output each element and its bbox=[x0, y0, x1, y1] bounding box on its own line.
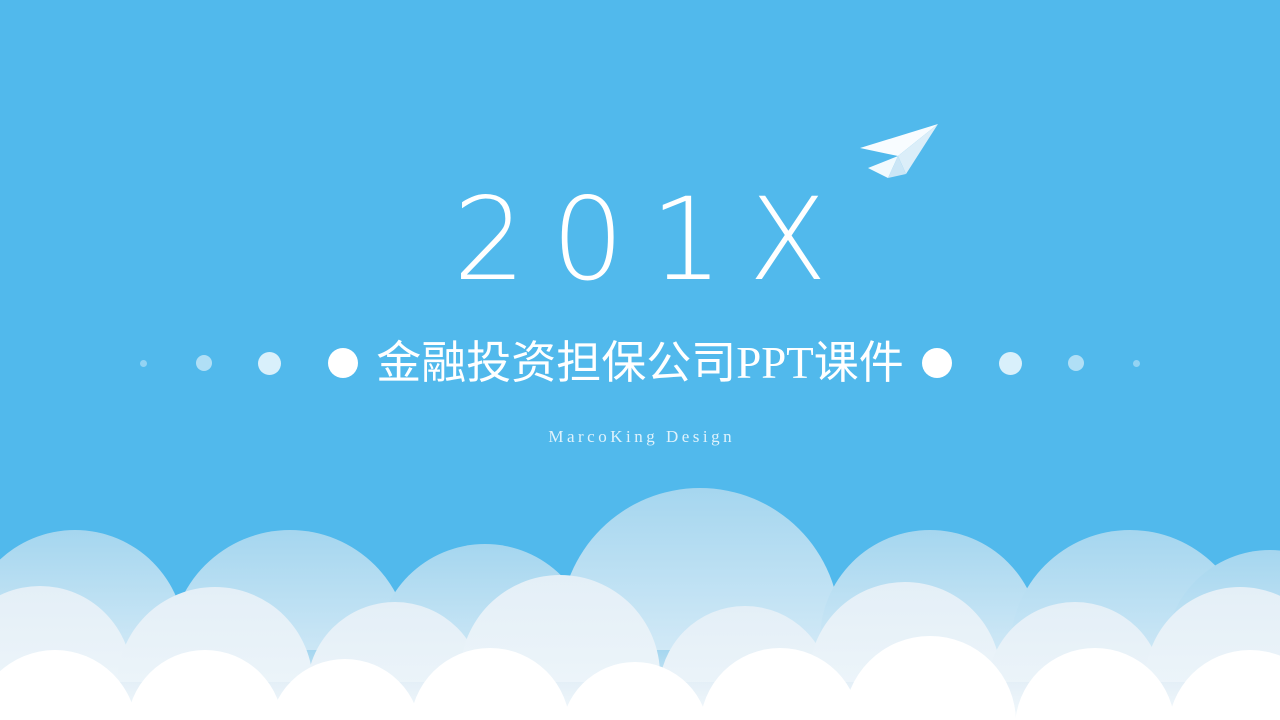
author-credit: MarcoKing Design bbox=[0, 427, 1280, 447]
decor-dot bbox=[140, 360, 147, 367]
decor-dot bbox=[999, 352, 1022, 375]
decor-dot bbox=[258, 352, 281, 375]
page-subtitle: 金融投资担保公司PPT课件 bbox=[358, 341, 922, 386]
cloud-decoration bbox=[0, 460, 1280, 720]
decor-dots-left bbox=[0, 348, 358, 378]
decor-dot bbox=[196, 355, 212, 371]
presentation-title-slide: 201X 金融投资担保公司PPT课件 MarcoKing Design bbox=[0, 0, 1280, 720]
decor-dot bbox=[922, 348, 952, 378]
subtitle-row: 金融投资担保公司PPT课件 bbox=[0, 332, 1280, 394]
decor-dot bbox=[328, 348, 358, 378]
decor-dot bbox=[1068, 355, 1084, 371]
page-title: 201X bbox=[0, 183, 1280, 297]
decor-dot bbox=[1133, 360, 1140, 367]
decor-dots-right bbox=[922, 348, 1280, 378]
